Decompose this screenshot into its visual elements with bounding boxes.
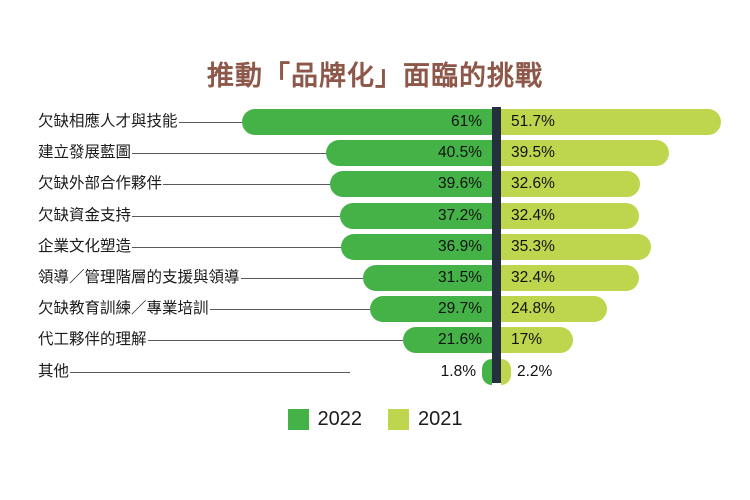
category-label: 欠缺資金支持: [38, 201, 131, 231]
chart-row: 建立發展藍圖40.5%39.5%: [0, 138, 750, 168]
legend-label: 2022: [318, 408, 363, 431]
chart-row: 欠缺資金支持37.2%32.4%: [0, 201, 750, 231]
bar-value-2021: 32.4%: [511, 203, 639, 229]
chart-row: 欠缺相應人才與技能61%51.7%: [0, 107, 750, 137]
chart-container: 推動「品牌化」面臨的挑戰 欠缺相應人才與技能61%51.7%建立發展藍圖40.5…: [0, 0, 750, 500]
legend-label: 2021: [418, 408, 463, 431]
legend-item-2022[interactable]: 2022: [288, 408, 363, 431]
leader-line: [241, 278, 363, 279]
category-label: 代工夥伴的理解: [38, 325, 147, 355]
bar-value-2021: 32.6%: [511, 171, 640, 197]
bar-value-2022: 36.9%: [341, 234, 482, 260]
bar-value-2022: 21.6%: [403, 327, 482, 353]
chart-row: 欠缺教育訓練／專業培訓29.7%24.8%: [0, 294, 750, 324]
chart-row: 欠缺外部合作夥伴39.6%32.6%: [0, 169, 750, 199]
leader-line: [163, 184, 330, 185]
leader-line: [132, 153, 326, 154]
bar-value-2022: 31.5%: [363, 265, 482, 291]
category-label: 企業文化塑造: [38, 232, 131, 262]
center-axis-divider: [492, 107, 501, 383]
chart-row: 領導／管理階層的支援與領導31.5%32.4%: [0, 263, 750, 293]
leader-line: [179, 122, 242, 123]
category-label: 欠缺外部合作夥伴: [38, 169, 162, 199]
bar-value-2022: 61%: [242, 109, 482, 135]
category-label: 其他: [38, 357, 69, 387]
chart-row: 代工夥伴的理解21.6%17%: [0, 325, 750, 355]
leader-line: [132, 216, 340, 217]
bar-value-2022: 40.5%: [326, 140, 482, 166]
leader-line: [148, 340, 403, 341]
bar-value-2021: 51.7%: [511, 109, 721, 135]
bar-value-2022: 1.8%: [356, 359, 476, 385]
bar-value-2021: 32.4%: [511, 265, 639, 291]
bar-value-2021: 2.2%: [517, 359, 637, 385]
category-label: 欠缺相應人才與技能: [38, 107, 178, 137]
legend-item-2021[interactable]: 2021: [388, 408, 463, 431]
leader-line: [132, 247, 341, 248]
bar-value-2021: 35.3%: [511, 234, 651, 260]
legend-swatch-icon: [388, 409, 409, 430]
bar-value-2021: 17%: [511, 327, 573, 353]
bar-2022: [482, 359, 492, 385]
bar-value-2022: 39.6%: [330, 171, 482, 197]
category-label: 建立發展藍圖: [38, 138, 131, 168]
chart-row: 其他1.8%2.2%: [0, 357, 750, 387]
bar-value-2022: 37.2%: [340, 203, 482, 229]
leader-line: [70, 372, 350, 373]
chart-row: 企業文化塑造36.9%35.3%: [0, 232, 750, 262]
chart-plot-area: 欠缺相應人才與技能61%51.7%建立發展藍圖40.5%39.5%欠缺外部合作夥…: [0, 0, 750, 400]
bar-value-2021: 39.5%: [511, 140, 669, 166]
bar-value-2022: 29.7%: [370, 296, 482, 322]
legend-swatch-icon: [288, 409, 309, 430]
category-label: 領導／管理階層的支援與領導: [38, 263, 240, 293]
bar-value-2021: 24.8%: [511, 296, 607, 322]
leader-line: [210, 309, 370, 310]
category-label: 欠缺教育訓練／專業培訓: [38, 294, 209, 324]
bar-2021: [501, 359, 511, 385]
chart-legend: 20222021: [0, 408, 750, 431]
